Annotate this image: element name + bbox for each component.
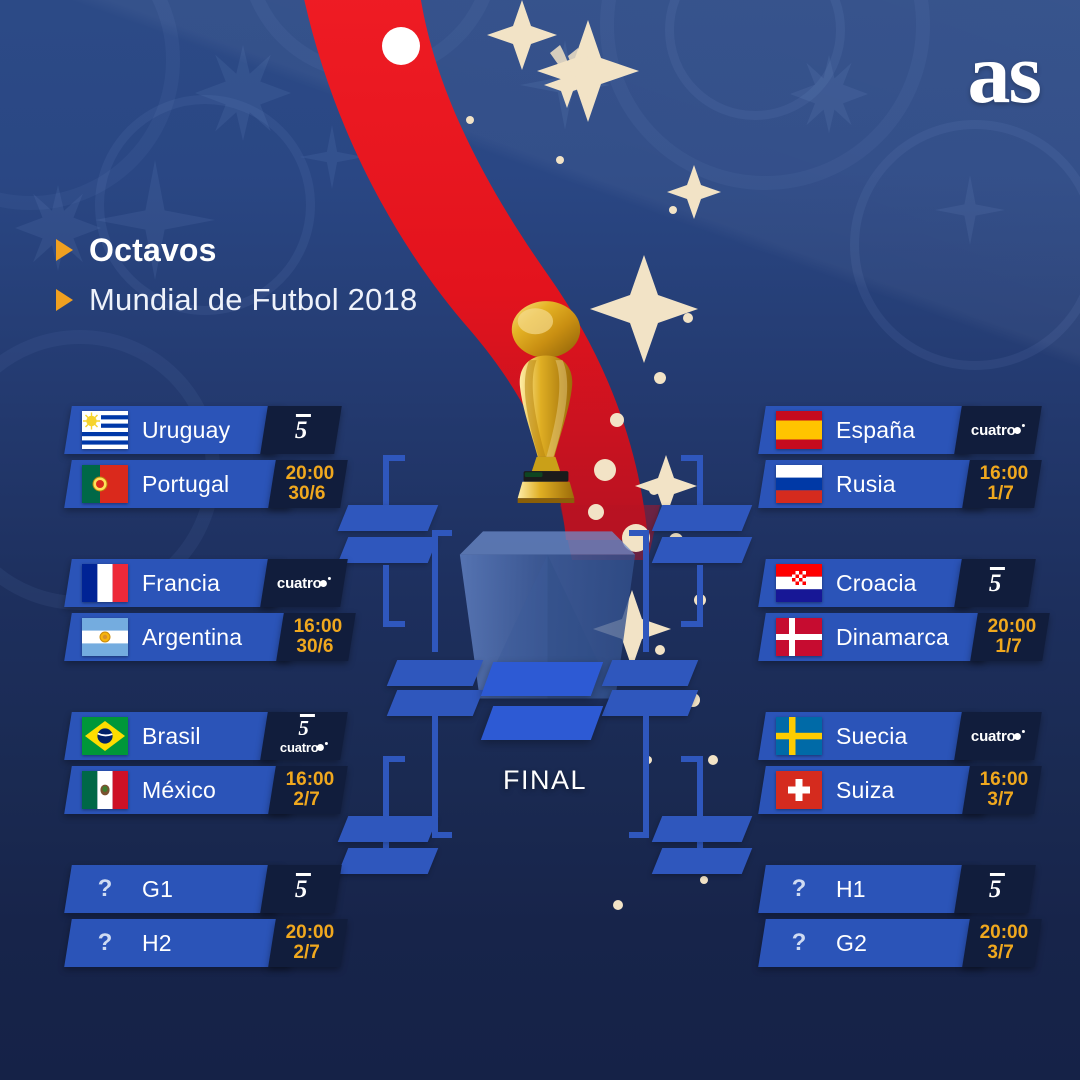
- russia-flag: [776, 465, 822, 503]
- background-ring-motif: [0, 0, 180, 210]
- match-block-7[interactable]: Suecia cuatro Suiza 16:00 3/7: [762, 712, 1024, 820]
- team-name: Brasil: [142, 712, 201, 760]
- cuatro-tick-icon: [325, 742, 328, 745]
- channel-chip: cuatro: [260, 559, 348, 607]
- channel-chip: 5: [260, 406, 342, 454]
- match-date: 3/7: [987, 943, 1013, 963]
- time-chip: 20:00 2/7: [268, 919, 348, 967]
- bracket-bar: [387, 660, 484, 686]
- bracket-line: [629, 832, 649, 838]
- as-logo: as: [968, 30, 1040, 116]
- bracket-line: [383, 621, 405, 627]
- match-date: 2/7: [293, 943, 319, 963]
- time-chip: 20:00 3/7: [962, 919, 1042, 967]
- bracket-line: [432, 716, 438, 838]
- cuatro-dot-icon: [317, 744, 324, 751]
- team-name: España: [836, 406, 915, 454]
- cuatro-label: cuatro: [277, 575, 322, 592]
- time-chip: 16:00 1/7: [962, 460, 1042, 508]
- triangle-bullet-icon: [56, 289, 73, 311]
- match-row-top[interactable]: España cuatro: [762, 406, 1024, 454]
- match-row-bottom[interactable]: Portugal 20:00 30/6: [68, 460, 330, 508]
- background-ring-motif: [665, 0, 845, 120]
- spain-flag: [776, 411, 822, 449]
- bracket-bar: [338, 816, 439, 842]
- time-chip: 16:00 2/7: [268, 766, 348, 814]
- team-name: G1: [142, 865, 173, 913]
- match-time: 16:00: [979, 770, 1028, 790]
- match-row-top[interactable]: Suecia cuatro: [762, 712, 1024, 760]
- cuatro-dot-icon: [1014, 427, 1021, 434]
- sweden-flag: [776, 717, 822, 755]
- bracket-line: [383, 756, 389, 818]
- cuatro-label: cuatro: [280, 740, 319, 755]
- match-row-bottom[interactable]: Rusia 16:00 1/7: [762, 460, 1024, 508]
- final-label: FINAL: [503, 765, 587, 796]
- cuatro-icon: cuatro: [280, 740, 328, 755]
- cuatro-tick-icon: [1022, 730, 1025, 733]
- match-date: 2/7: [293, 790, 319, 810]
- placeholder-question-icon: ?: [82, 865, 128, 913]
- match-row-top[interactable]: Croacia 5: [762, 559, 1024, 607]
- team-name: Portugal: [142, 460, 229, 508]
- uruguay-flag: [82, 411, 128, 449]
- cuatro-label: cuatro: [971, 728, 1016, 745]
- team-name: Argentina: [142, 613, 242, 661]
- telecinco-5-icon: 5: [295, 877, 308, 902]
- match-time: 20:00: [285, 923, 334, 943]
- cuatro-tick-icon: [328, 577, 331, 580]
- match-block-6[interactable]: Croacia 5 Dinamarca 20:00 1/7: [762, 559, 1024, 667]
- match-block-8[interactable]: ? H1 5 ? G2 20:00 3/7: [762, 865, 1024, 973]
- bracket-line: [432, 530, 452, 536]
- brazil-flag: [82, 717, 128, 755]
- bracket-line: [383, 565, 389, 627]
- match-date: 30/6: [288, 484, 325, 504]
- team-name: Suecia: [836, 712, 908, 760]
- cuatro-dot-icon: [1014, 733, 1021, 740]
- channel-chip: 5: [954, 559, 1036, 607]
- bracket-line: [383, 756, 405, 762]
- match-row-bottom[interactable]: Dinamarca 20:00 1/7: [762, 613, 1024, 661]
- france-flag: [82, 564, 128, 602]
- match-row-top[interactable]: Brasil 5 cuatro: [68, 712, 330, 760]
- channel-chip: 5 cuatro: [260, 712, 348, 760]
- team-name: México: [142, 766, 216, 814]
- mexico-flag: [82, 771, 128, 809]
- match-time: 16:00: [293, 617, 342, 637]
- match-time: 20:00: [285, 464, 334, 484]
- bracket-bar: [652, 816, 753, 842]
- final-slot-top: [481, 662, 603, 696]
- channel-stack: 5 cuatro: [280, 718, 328, 755]
- bracket-bar: [652, 848, 753, 874]
- team-name: Croacia: [836, 559, 917, 607]
- bracket-bar: [652, 505, 753, 531]
- telecinco-5-icon: 5: [299, 718, 310, 739]
- match-row-top[interactable]: Uruguay 5: [68, 406, 330, 454]
- denmark-flag: [776, 618, 822, 656]
- match-date: 1/7: [987, 484, 1013, 504]
- match-row-bottom[interactable]: Argentina 16:00 30/6: [68, 613, 330, 661]
- team-name: H2: [142, 919, 172, 967]
- match-block-5[interactable]: España cuatro Rusia 16:00 1/7: [762, 406, 1024, 514]
- cuatro-label: cuatro: [971, 422, 1016, 439]
- triangle-bullet-icon: [56, 239, 73, 261]
- cuatro-dot-icon: [320, 580, 327, 587]
- match-row-bottom[interactable]: ? G2 20:00 3/7: [762, 919, 1024, 967]
- channel-chip: cuatro: [954, 406, 1042, 454]
- headline-row-secondary: Mundial de Futbol 2018: [56, 278, 417, 322]
- time-chip: 20:00 30/6: [268, 460, 348, 508]
- bracket-line: [629, 530, 649, 536]
- match-block-1[interactable]: Uruguay 5 Portugal 20:00 30/6: [68, 406, 330, 514]
- bracket-line: [681, 621, 703, 627]
- bracket-bar: [338, 505, 439, 531]
- headline-row-primary: Octavos: [56, 228, 417, 272]
- time-chip: 20:00 1/7: [970, 613, 1050, 661]
- background-ring-motif: [600, 0, 930, 190]
- page-subtitle: Mundial de Futbol 2018: [89, 282, 417, 318]
- background-burst-motif: [790, 55, 868, 133]
- bracket-line: [643, 716, 649, 838]
- bracket-line: [697, 756, 703, 818]
- bracket-line: [432, 832, 452, 838]
- telecinco-5-icon: 5: [295, 418, 308, 443]
- channel-chip: 5: [260, 865, 342, 913]
- match-date: 30/6: [296, 637, 333, 657]
- time-chip: 16:00 30/6: [276, 613, 356, 661]
- match-row-top[interactable]: Francia cuatro: [68, 559, 330, 607]
- telecinco-5-icon: 5: [989, 571, 1002, 596]
- cuatro-icon: cuatro: [277, 575, 331, 592]
- headline-block: Octavos Mundial de Futbol 2018: [56, 228, 417, 322]
- switzerland-flag: [776, 771, 822, 809]
- world-cup-trophy: [487, 280, 605, 530]
- portugal-flag: [82, 465, 128, 503]
- placeholder-question-icon: ?: [776, 919, 822, 967]
- match-block-2[interactable]: Francia cuatro Argentina 16:00: [68, 559, 330, 667]
- background-star-motif: [520, 40, 610, 130]
- team-name: Suiza: [836, 766, 895, 814]
- match-time: 16:00: [285, 770, 334, 790]
- match-time: 20:00: [987, 617, 1036, 637]
- background-star-motif: [300, 125, 364, 189]
- match-row-bottom[interactable]: ? H2 20:00 2/7: [68, 919, 330, 967]
- bracket-bar: [602, 660, 699, 686]
- match-block-3[interactable]: Brasil 5 cuatro: [68, 712, 330, 820]
- cuatro-icon: cuatro: [971, 422, 1025, 439]
- bracket-line: [643, 530, 649, 652]
- team-name: Uruguay: [142, 406, 230, 454]
- team-name: Francia: [142, 559, 220, 607]
- match-date: 1/7: [995, 637, 1021, 657]
- background-burst-motif: [195, 45, 291, 141]
- cuatro-tick-icon: [1022, 424, 1025, 427]
- bracket-line: [383, 455, 405, 461]
- team-name: Dinamarca: [836, 613, 949, 661]
- page-title: Octavos: [89, 232, 217, 269]
- background-ring-motif: [240, 0, 500, 80]
- placeholder-question-icon: ?: [776, 865, 822, 913]
- team-name: G2: [836, 919, 867, 967]
- match-row-bottom[interactable]: México 16:00 2/7: [68, 766, 330, 814]
- match-date: 3/7: [987, 790, 1013, 810]
- bracket-line: [697, 565, 703, 627]
- match-row-top[interactable]: ? G1 5: [68, 865, 330, 913]
- bracket-line: [681, 455, 703, 461]
- match-block-4[interactable]: ? G1 5 ? H2 20:00 2/7: [68, 865, 330, 973]
- bracket-line: [681, 756, 703, 762]
- bracket-bar: [387, 690, 484, 716]
- placeholder-question-icon: ?: [82, 919, 128, 967]
- argentina-flag: [82, 618, 128, 656]
- background-star-motif: [935, 175, 1005, 245]
- match-time: 20:00: [979, 923, 1028, 943]
- cuatro-icon: cuatro: [971, 728, 1025, 745]
- final-slot-bottom: [481, 706, 603, 740]
- bracket-bar: [602, 690, 699, 716]
- match-row-bottom[interactable]: Suiza 16:00 3/7: [762, 766, 1024, 814]
- bracket-bar: [338, 848, 439, 874]
- croatia-flag: [776, 564, 822, 602]
- bracket-line: [432, 530, 438, 652]
- bracket-bar: [338, 537, 439, 563]
- time-chip: 16:00 3/7: [962, 766, 1042, 814]
- team-name: Rusia: [836, 460, 896, 508]
- bracket-bar: [652, 537, 753, 563]
- telecinco-5-icon: 5: [989, 877, 1002, 902]
- background-ring-motif: [850, 120, 1080, 370]
- match-row-top[interactable]: ? H1 5: [762, 865, 1024, 913]
- channel-chip: cuatro: [954, 712, 1042, 760]
- channel-chip: 5: [954, 865, 1036, 913]
- infographic-canvas: as Octavos Mundial de Futbol 2018: [0, 0, 1080, 1080]
- match-time: 16:00: [979, 464, 1028, 484]
- team-name: H1: [836, 865, 866, 913]
